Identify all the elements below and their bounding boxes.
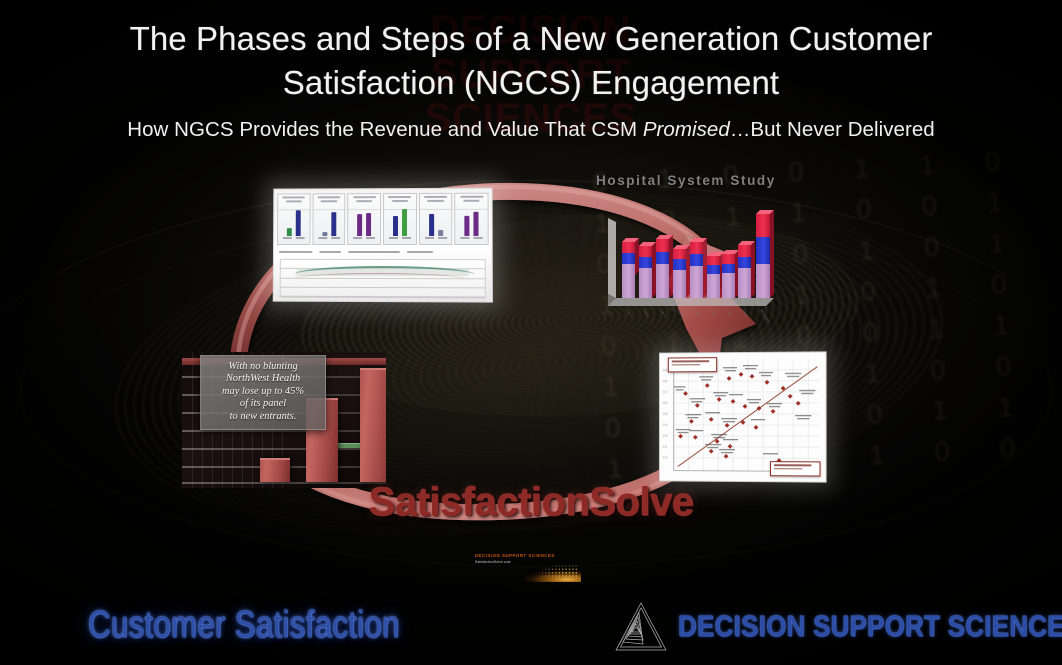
customer-satisfaction-logo: Customer Satisfaction: [88, 604, 400, 647]
dashboard-metric-panel: [455, 193, 489, 245]
company-name: DECISION SUPPORT SCIENCES: [678, 610, 1062, 644]
dashboard-metric-panel: [277, 193, 310, 245]
callout-line-5: to new entrants.: [205, 411, 321, 423]
dashboard-metric-panel: [312, 193, 345, 245]
svg-text:0.2: 0.2: [663, 445, 668, 449]
dashboard-line-chart: [280, 259, 486, 299]
dashboard-panel-row: [277, 193, 489, 245]
svg-text:Cat 8: Cat 8: [741, 308, 749, 317]
satisfactionsolve-wordmark: SatisfactionSolve: [0, 480, 1062, 525]
svg-text:0.6: 0.6: [663, 401, 668, 405]
panel-bars: [348, 206, 380, 236]
subtitle-prefix: How NGCS Provides the Revenue and Value …: [127, 118, 643, 141]
left-3d-bar-chart[interactable]: With no blunting NorthWest Health may lo…: [182, 352, 386, 488]
svg-text:Cat 6: Cat 6: [709, 308, 717, 317]
page-title-line-2: Satisfaction (NGCS) Engagement: [0, 61, 1062, 105]
svg-text:Cat 5: Cat 5: [693, 308, 701, 317]
svg-text:0.1: 0.1: [663, 456, 668, 460]
panel-bars: [313, 206, 344, 236]
subtitle-suffix: …But Never Delivered: [730, 118, 935, 141]
panel-axis-labels: [458, 237, 486, 243]
northwest-health-risk-callout: With no blunting NorthWest Health may lo…: [200, 355, 326, 430]
panel-axis-labels: [350, 237, 378, 243]
svg-text:0.9: 0.9: [663, 368, 668, 372]
svg-text:0.3: 0.3: [663, 434, 668, 438]
annotation-box-bottom-right: [770, 461, 820, 476]
dashboard-metric-panel: [419, 193, 453, 245]
bar-high: [360, 368, 386, 482]
sub-logo-line-2: SatisfactionSolve.com: [475, 560, 511, 564]
satisfactionsolve-sub-logo: DECISION SUPPORT SCIENCES SatisfactionSo…: [473, 548, 581, 582]
panel-bars: [384, 206, 416, 236]
svg-text:Cat 1: Cat 1: [625, 308, 633, 317]
panel-axis-labels: [386, 237, 414, 243]
analytics-dashboard-screenshot[interactable]: [273, 188, 493, 303]
dashboard-summary-row: [279, 248, 487, 256]
callout-line-2: NorthWest Health: [205, 373, 321, 385]
page-title-line-1: The Phases and Steps of a New Generation…: [0, 17, 1062, 61]
svg-text:0.5: 0.5: [663, 412, 668, 416]
panel-axis-labels: [280, 237, 307, 243]
perceptual-map-scatter[interactable]: 0.90.80.7 0.60.50.4 0.30.20.1: [659, 351, 827, 482]
decision-support-sciences-logo: DECISION SUPPORT SCIENCES: [613, 600, 1062, 654]
triangle-spiral-icon: [613, 600, 669, 654]
svg-text:Cat 3: Cat 3: [659, 308, 667, 317]
dashboard-metric-panel: [347, 193, 381, 245]
svg-text:0.4: 0.4: [663, 423, 668, 427]
panel-axis-labels: [422, 237, 450, 243]
sub-logo-line-1: DECISION SUPPORT SCIENCES: [475, 553, 555, 558]
svg-text:Cat 4: Cat 4: [676, 308, 684, 317]
panel-axis-labels: [315, 237, 342, 243]
callout-line-4: of its panel: [205, 398, 321, 410]
svg-text:0.7: 0.7: [663, 390, 668, 394]
panel-bars: [420, 206, 452, 236]
callout-line-3: may lose up to 45%: [205, 386, 321, 398]
dashboard-metric-panel: [383, 193, 417, 245]
page-title: The Phases and Steps of a New Generation…: [0, 0, 1062, 105]
panel-bars: [456, 206, 488, 236]
svg-text:All Cases: All Cases: [759, 308, 771, 323]
page-subtitle: How NGCS Provides the Revenue and Value …: [0, 118, 1062, 142]
stacked-3d-bar-chart[interactable]: Cat 1 Cat 2 Cat 3 Cat 4 Cat 5 Cat 6 Cat …: [596, 212, 782, 328]
annotation-box-top-left: [668, 357, 717, 372]
svg-text:Cat 2: Cat 2: [642, 308, 650, 317]
subtitle-emphasis: Promised: [643, 118, 730, 141]
callout-line-1: With no blunting: [205, 361, 321, 373]
slide-canvas: 0 1 0 0 1 1 0 1 0 1 1 0 0 1 0 0 1 0 1 0 …: [0, 0, 1062, 665]
svg-text:Cat 7: Cat 7: [725, 308, 733, 317]
hospital-system-study-label: Hospital System Study: [596, 173, 776, 188]
bar-low: [260, 458, 290, 482]
panel-bars: [278, 206, 309, 236]
svg-text:0.8: 0.8: [663, 379, 668, 383]
slide-header: The Phases and Steps of a New Generation…: [0, 0, 1062, 142]
